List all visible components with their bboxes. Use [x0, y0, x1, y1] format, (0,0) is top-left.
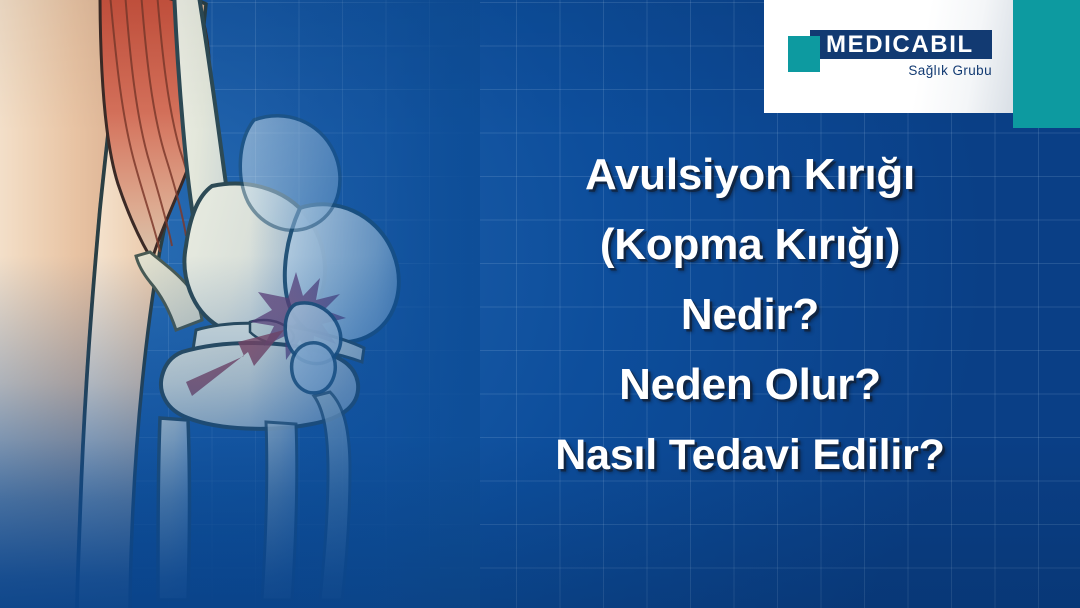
logo-panel: MEDICABIL Sağlık Grubu — [764, 0, 1013, 113]
headline-line-3: Nedir? — [440, 280, 1060, 350]
page-title: Avulsiyon Kırığı (Kopma Kırığı) Nedir? N… — [440, 140, 1060, 490]
logo-wordmark: MEDICABIL — [826, 31, 974, 58]
poster-canvas: MEDICABIL Sağlık Grubu Avulsiyon Kırığı … — [0, 0, 1080, 608]
headline-line-2: (Kopma Kırığı) — [440, 210, 1060, 280]
headline-line-1: Avulsiyon Kırığı — [440, 140, 1060, 210]
headline-line-4: Neden Olur? — [440, 350, 1060, 420]
headline-line-5: Nasıl Tedavi Edilir? — [440, 420, 1060, 490]
medicabil-logo: MEDICABIL Sağlık Grubu — [788, 30, 992, 88]
teal-accent-block — [1013, 0, 1080, 128]
footer-bar: 444 8 112 — [0, 518, 1080, 608]
logo-teal-square — [788, 36, 820, 72]
logo-tagline: Sağlık Grubu — [908, 63, 992, 78]
